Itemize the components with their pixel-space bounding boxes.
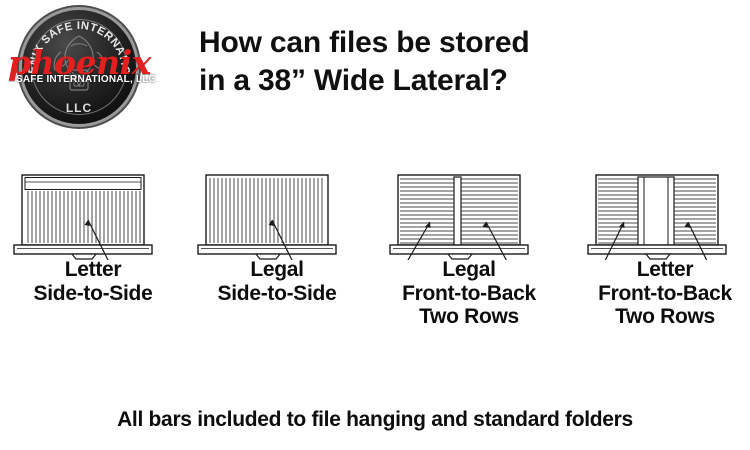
drawer-label-line-1: Legal <box>376 258 562 282</box>
centre-divider <box>454 177 461 245</box>
phoenix-safe-logo: PHOENIX SAFE INTERNATIONAL LLC phoenix S… <box>8 8 140 126</box>
drawer-label-line-1: Letter <box>0 258 186 282</box>
drawer-label-line-3: Two Rows <box>376 305 562 329</box>
drawer-label-line-2: Front-to-Back <box>572 282 750 306</box>
drawer-diagram-legal-side-to-side <box>190 168 362 260</box>
logo-seal-bottom-text: LLC <box>22 101 136 115</box>
drawer-label-letter-side-to-side: Letter Side-to-Side <box>0 258 186 305</box>
page-title-line-2: in a 38” Wide Lateral? <box>199 62 619 100</box>
drawer-label-letter-front-to-back: Letter Front-to-Back Two Rows <box>572 258 750 329</box>
drawer-label-line-2: Front-to-Back <box>376 282 562 306</box>
drawer-diagram-legal-front-to-back <box>382 168 554 260</box>
page-title-line-1: How can files be stored <box>199 24 619 62</box>
drawer-diagram-letter-side-to-side <box>6 168 178 260</box>
drawer-label-line-1: Legal <box>184 258 370 282</box>
logo-subtitle: SAFE INTERNATIONAL, LLC <box>16 74 142 85</box>
drawer-label-legal-front-to-back: Legal Front-to-Back Two Rows <box>376 258 562 329</box>
drawer-label-line-2: Side-to-Side <box>0 282 186 306</box>
poster-canvas: PHOENIX SAFE INTERNATIONAL LLC phoenix S… <box>0 0 750 450</box>
drawer-label-legal-side-to-side: Legal Side-to-Side <box>184 258 370 305</box>
centre-divider <box>638 177 674 245</box>
drawer-label-line-1: Letter <box>572 258 750 282</box>
drawer-diagram-letter-front-to-back <box>580 168 750 260</box>
drawer-label-line-2: Side-to-Side <box>184 282 370 306</box>
footer-caption: All bars included to file hanging and st… <box>0 408 750 432</box>
page-title: How can files be stored in a 38” Wide La… <box>199 24 619 100</box>
drawer-label-line-3: Two Rows <box>572 305 750 329</box>
